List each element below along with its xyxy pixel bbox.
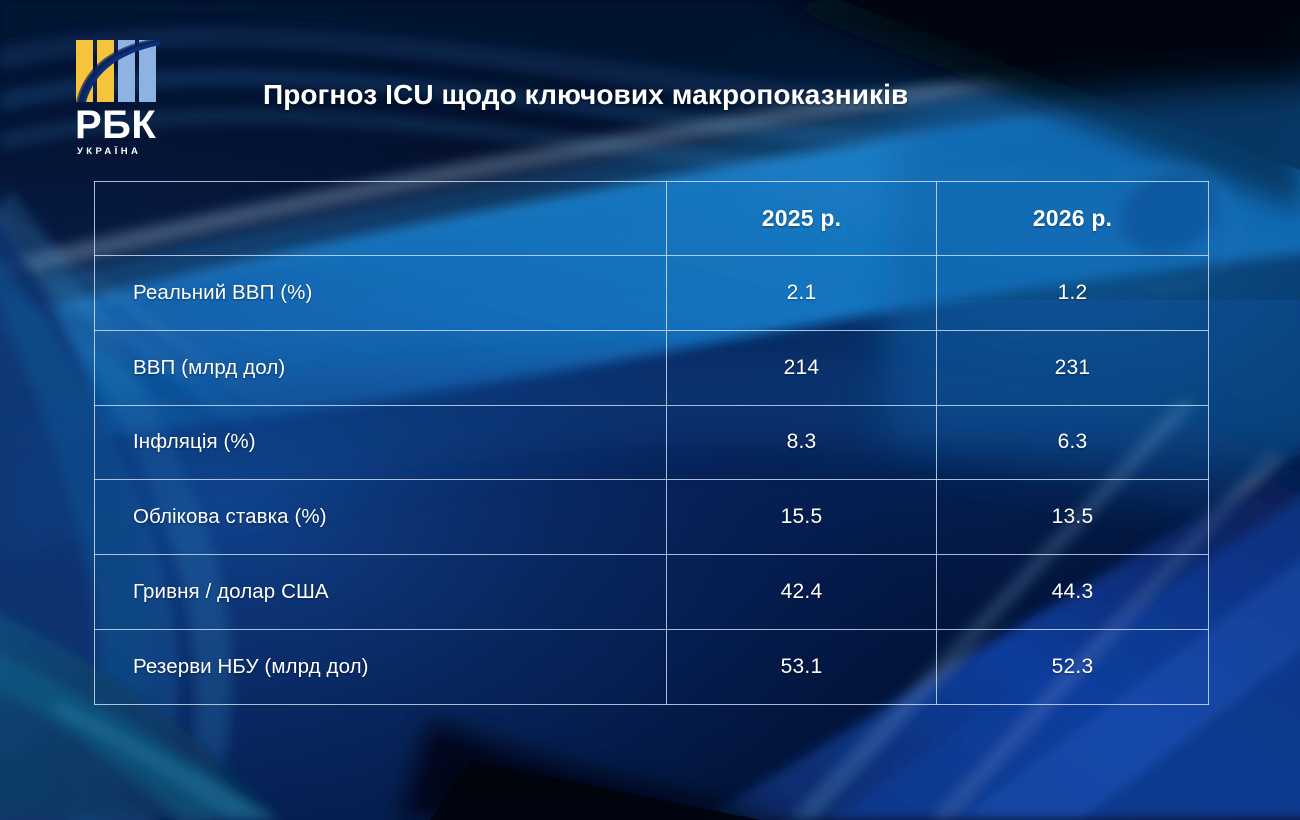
- cell-2026: 52.3: [937, 629, 1209, 704]
- row-label: Облікова ставка (%): [95, 480, 667, 555]
- table-row: Резерви НБУ (млрд дол) 53.1 52.3: [95, 629, 1209, 704]
- table-row: Інфляція (%) 8.3 6.3: [95, 405, 1209, 480]
- row-label: Резерви НБУ (млрд дол): [95, 629, 667, 704]
- table-row: Гривня / долар США 42.4 44.3: [95, 555, 1209, 630]
- cell-2026: 44.3: [937, 555, 1209, 630]
- column-header-2025: 2025 р.: [667, 182, 937, 256]
- cell-2025: 15.5: [667, 480, 937, 555]
- cell-2025: 8.3: [667, 405, 937, 480]
- cell-2025: 214: [667, 330, 937, 405]
- table-row: ВВП (млрд дол) 214 231: [95, 330, 1209, 405]
- cell-2026: 1.2: [937, 256, 1209, 331]
- cell-2025: 2.1: [667, 256, 937, 331]
- row-label: Гривня / долар США: [95, 555, 667, 630]
- cell-2025: 53.1: [667, 629, 937, 704]
- table-body: Реальний ВВП (%) 2.1 1.2 ВВП (млрд дол) …: [95, 256, 1209, 705]
- column-header-indicator: [95, 182, 667, 256]
- logo-text: РБК: [75, 108, 172, 142]
- row-label: Реальний ВВП (%): [95, 256, 667, 331]
- row-label: Інфляція (%): [95, 405, 667, 480]
- table-row: Облікова ставка (%) 15.5 13.5: [95, 480, 1209, 555]
- table-header-row: 2025 р. 2026 р.: [95, 182, 1209, 256]
- row-label: ВВП (млрд дол): [95, 330, 667, 405]
- cell-2026: 13.5: [937, 480, 1209, 555]
- cell-2025: 42.4: [667, 555, 937, 630]
- logo-bars: [76, 40, 160, 102]
- forecast-table: 2025 р. 2026 р. Реальний ВВП (%) 2.1 1.2…: [94, 181, 1209, 705]
- logo-swoosh-icon: [76, 40, 160, 102]
- column-header-2026: 2026 р.: [937, 182, 1209, 256]
- cell-2026: 6.3: [937, 405, 1209, 480]
- cell-2026: 231: [937, 330, 1209, 405]
- table-header: 2025 р. 2026 р.: [95, 182, 1209, 256]
- logo-subtext: УКРАЇНА: [77, 146, 172, 157]
- page-title: Прогноз ICU щодо ключових макропоказникі…: [263, 79, 908, 111]
- rbc-ukraine-logo[interactable]: РБК УКРАЇНА: [72, 40, 172, 150]
- macro-forecast-table: 2025 р. 2026 р. Реальний ВВП (%) 2.1 1.2…: [94, 181, 1208, 704]
- table-row: Реальний ВВП (%) 2.1 1.2: [95, 256, 1209, 331]
